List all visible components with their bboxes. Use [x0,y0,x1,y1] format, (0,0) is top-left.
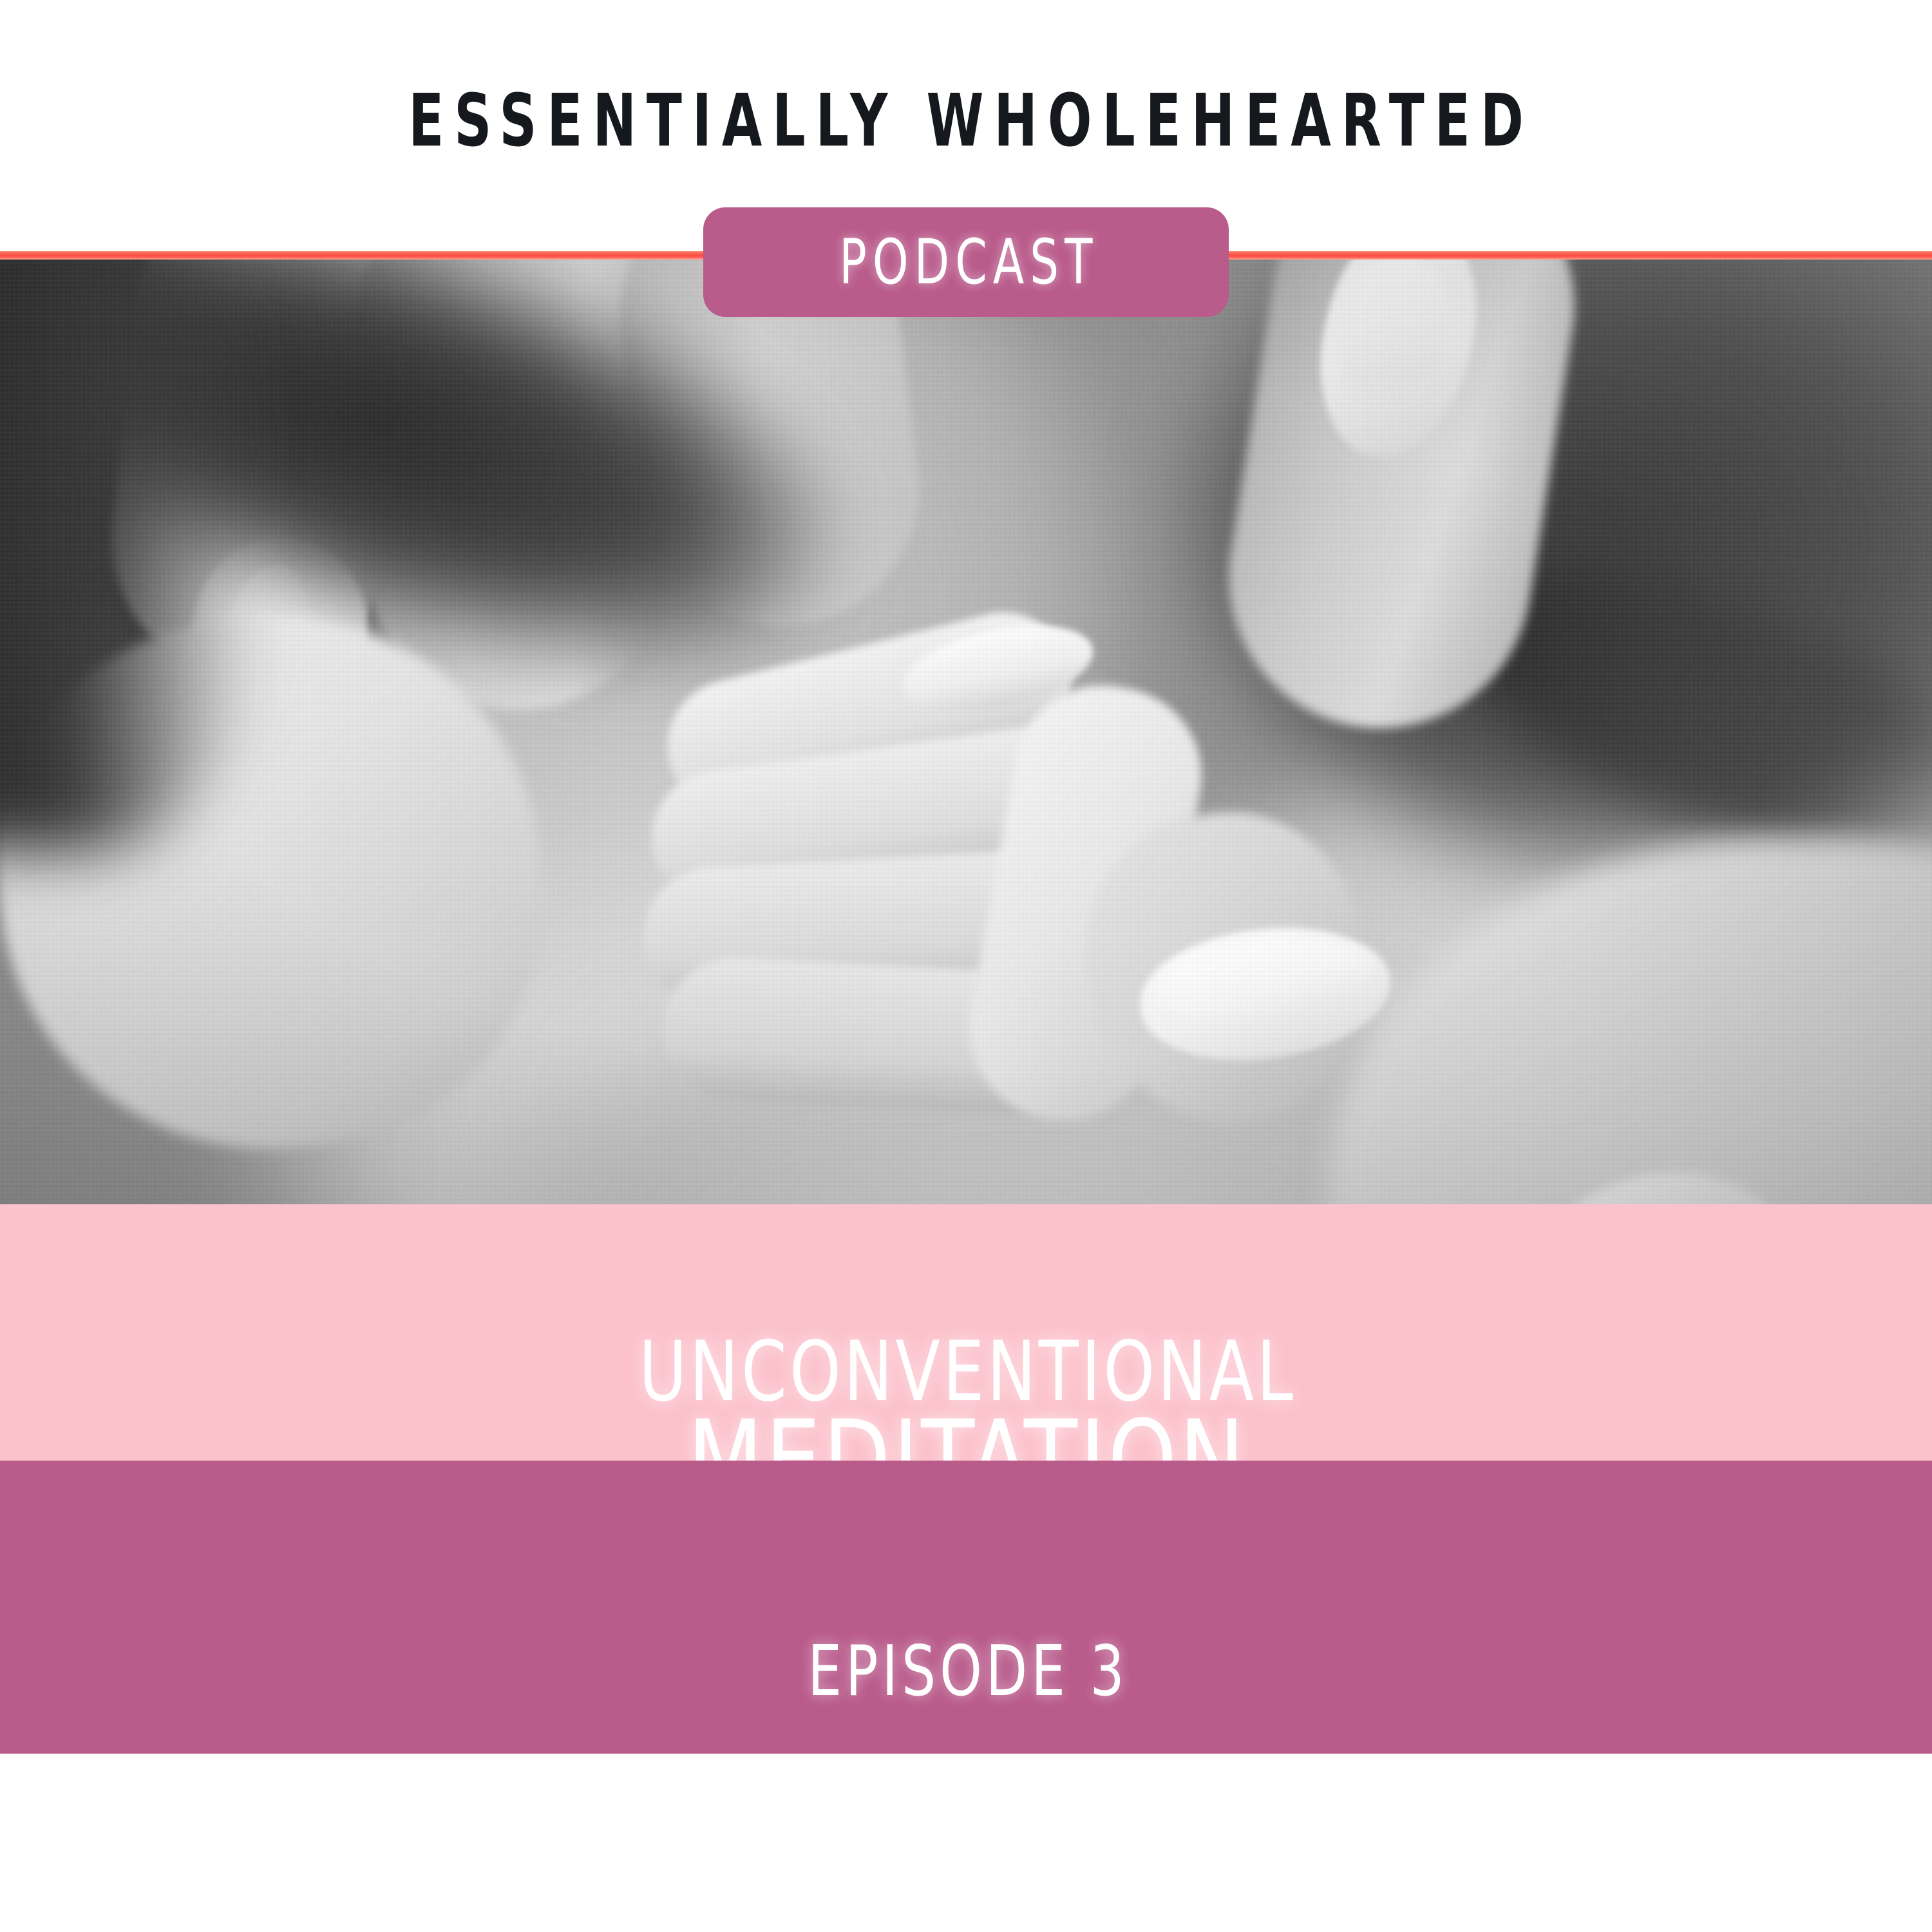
footer-bar: Listen on Apple Podcasts @ L U C Y S M I… [0,1754,1932,1932]
podcast-cover-art: ESSENTIALLY WHOLEHEARTED [0,0,1932,1932]
photo-vignette-overlay [0,260,1932,1204]
podcast-badge: PODCAST [703,207,1229,317]
podcast-badge-label: PODCAST [833,231,1098,293]
cover-photo [0,260,1932,1204]
show-title: ESSENTIALLY WHOLEHEARTED [193,85,1739,157]
episode-number-label: EPISODE 3 [135,1637,1797,1707]
